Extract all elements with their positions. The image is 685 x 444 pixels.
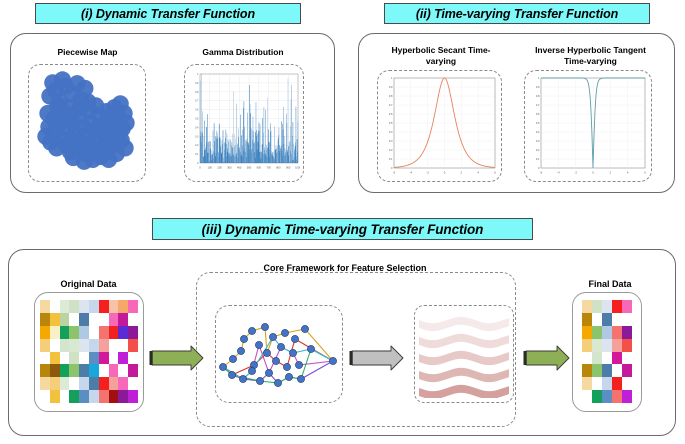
original-data-cell <box>128 352 138 365</box>
final-data-cell <box>582 339 592 352</box>
svg-text:0.3: 0.3 <box>195 135 199 138</box>
svg-text:0.5: 0.5 <box>536 121 540 125</box>
svg-text:0.4: 0.4 <box>195 126 199 129</box>
hyperbolic-secant-chart: -6-4-2024600.10.20.30.40.50.60.70.80.91 <box>381 74 498 178</box>
final-data-cell <box>612 300 622 313</box>
final-data-cell <box>592 300 602 313</box>
final-data-cell <box>592 352 602 365</box>
svg-text:0.2: 0.2 <box>389 148 393 152</box>
final-data-cell <box>622 313 632 326</box>
final-data-cell <box>582 352 592 365</box>
arrow-original-to-core-icon <box>148 344 204 372</box>
original-data-cell <box>40 352 50 365</box>
original-data-heatmap <box>40 300 138 403</box>
original-data-cell <box>79 313 89 326</box>
svg-text:-2: -2 <box>426 171 429 175</box>
svg-text:1: 1 <box>197 73 199 76</box>
svg-text:500: 500 <box>247 166 252 170</box>
svg-text:0: 0 <box>199 166 201 170</box>
original-data-cell <box>89 377 99 390</box>
original-data-cell <box>69 313 79 326</box>
original-data-cell <box>60 390 70 403</box>
final-data-cell <box>602 377 612 390</box>
original-data-cell <box>50 339 60 352</box>
original-data-cell <box>50 300 60 313</box>
transfer-function-wave-graphic <box>419 310 509 398</box>
original-data-cell <box>109 339 119 352</box>
svg-text:4: 4 <box>477 171 479 175</box>
svg-text:0.8: 0.8 <box>195 91 199 94</box>
original-data-cell <box>60 313 70 326</box>
hyperbolic-secant-title: Hyperbolic Secant Time-varying <box>377 45 505 67</box>
original-data-cell <box>50 313 60 326</box>
svg-text:0: 0 <box>538 166 540 170</box>
final-data-cell <box>602 326 612 339</box>
original-data-cell <box>89 390 99 403</box>
final-data-cell <box>582 313 592 326</box>
banner-time-varying-transfer-function: (ii) Time-varying Transfer Function <box>384 3 650 24</box>
final-data-cell <box>622 339 632 352</box>
original-data-cell <box>60 364 70 377</box>
original-data-cell <box>89 364 99 377</box>
original-data-cell <box>40 390 50 403</box>
original-data-cell <box>118 352 128 365</box>
original-data-cell <box>118 339 128 352</box>
banner-i-label: (i) Dynamic Transfer Function <box>81 7 255 21</box>
svg-text:400: 400 <box>237 166 242 170</box>
final-data-cell <box>612 313 622 326</box>
piecewise-map-scatter-chart <box>33 69 141 177</box>
svg-text:0.5: 0.5 <box>195 118 199 121</box>
svg-text:100: 100 <box>208 166 213 170</box>
svg-text:2: 2 <box>610 171 612 175</box>
svg-text:0.3: 0.3 <box>389 139 393 143</box>
svg-text:0.5: 0.5 <box>389 121 393 125</box>
svg-text:-4: -4 <box>410 171 413 175</box>
svg-text:0.4: 0.4 <box>536 130 540 134</box>
svg-text:200: 200 <box>217 166 222 170</box>
final-data-title: Final Data <box>570 279 650 290</box>
original-data-cell <box>50 390 60 403</box>
original-data-cell <box>69 326 79 339</box>
original-data-cell <box>89 339 99 352</box>
final-data-cell <box>612 339 622 352</box>
original-data-cell <box>118 300 128 313</box>
svg-text:0.6: 0.6 <box>389 112 393 116</box>
final-data-cell <box>622 390 632 403</box>
original-data-cell <box>40 326 50 339</box>
svg-text:0.6: 0.6 <box>195 109 199 112</box>
gamma-distribution-title: Gamma Distribution <box>178 47 308 58</box>
svg-text:0: 0 <box>197 162 199 165</box>
original-data-cell <box>50 352 60 365</box>
original-data-cell <box>79 326 89 339</box>
final-data-cell <box>602 352 612 365</box>
original-data-cell <box>109 352 119 365</box>
banner-iii-label: (iii) Dynamic Time-varying Transfer Func… <box>202 222 484 237</box>
svg-text:6: 6 <box>644 171 646 175</box>
original-data-cell <box>79 352 89 365</box>
original-data-cell <box>109 390 119 403</box>
svg-text:-4: -4 <box>557 171 560 175</box>
svg-text:800: 800 <box>276 166 281 170</box>
final-data-cell <box>622 352 632 365</box>
svg-text:-6: -6 <box>540 171 543 175</box>
original-data-cell <box>118 377 128 390</box>
original-data-cell <box>40 313 50 326</box>
final-data-cell <box>612 390 622 403</box>
original-data-cell <box>69 300 79 313</box>
svg-text:0.8: 0.8 <box>536 94 540 98</box>
original-data-cell <box>118 313 128 326</box>
original-data-cell <box>40 300 50 313</box>
original-data-title: Original Data <box>36 279 141 290</box>
original-data-cell <box>99 364 109 377</box>
original-data-cell <box>79 377 89 390</box>
svg-text:600: 600 <box>257 166 262 170</box>
svg-text:-6: -6 <box>393 171 396 175</box>
original-data-cell <box>128 390 138 403</box>
original-data-cell <box>99 339 109 352</box>
original-data-cell <box>79 390 89 403</box>
final-data-cell <box>612 377 622 390</box>
original-data-cell <box>128 339 138 352</box>
banner-dynamic-time-varying-transfer-function: (iii) Dynamic Time-varying Transfer Func… <box>152 218 533 240</box>
svg-text:1: 1 <box>538 76 540 80</box>
original-data-cell <box>128 313 138 326</box>
final-data-cell <box>582 377 592 390</box>
original-data-cell <box>69 339 79 352</box>
original-data-cell <box>109 326 119 339</box>
svg-text:0.1: 0.1 <box>195 153 199 156</box>
original-data-cell <box>99 377 109 390</box>
original-data-cell <box>109 364 119 377</box>
original-data-cell <box>89 326 99 339</box>
original-data-cell <box>89 313 99 326</box>
svg-text:0.4: 0.4 <box>389 130 393 134</box>
final-data-cell <box>582 390 592 403</box>
final-data-cell <box>622 326 632 339</box>
final-data-cell <box>602 339 612 352</box>
final-data-cell <box>612 326 622 339</box>
original-data-cell <box>109 313 119 326</box>
final-data-cell <box>602 313 612 326</box>
original-data-cell <box>128 326 138 339</box>
arrow-population-to-transfer-icon <box>348 344 404 372</box>
svg-text:300: 300 <box>227 166 232 170</box>
svg-text:0.9: 0.9 <box>195 82 199 85</box>
original-data-cell <box>60 300 70 313</box>
svg-text:1: 1 <box>391 76 393 80</box>
svg-text:6: 6 <box>494 171 496 175</box>
original-data-cell <box>40 339 50 352</box>
svg-text:700: 700 <box>266 166 271 170</box>
original-data-cell <box>79 364 89 377</box>
svg-text:900: 900 <box>286 166 291 170</box>
original-data-cell <box>69 364 79 377</box>
final-data-cell <box>612 364 622 377</box>
original-data-cell <box>69 352 79 365</box>
svg-text:0.8: 0.8 <box>389 94 393 98</box>
svg-text:0.2: 0.2 <box>536 148 540 152</box>
final-data-cell <box>592 313 602 326</box>
svg-text:0.2: 0.2 <box>195 144 199 147</box>
svg-text:0.7: 0.7 <box>389 103 393 107</box>
banner-dynamic-transfer-function: (i) Dynamic Transfer Function <box>35 3 301 24</box>
svg-text:0: 0 <box>592 171 594 175</box>
original-data-cell <box>128 377 138 390</box>
final-data-cell <box>592 339 602 352</box>
svg-text:0.1: 0.1 <box>389 157 393 161</box>
final-data-cell <box>582 326 592 339</box>
original-data-cell <box>50 377 60 390</box>
inverse-hyperbolic-tangent-chart: -6-4-2024600.10.20.30.40.50.60.70.80.91 <box>528 74 648 178</box>
original-data-cell <box>89 300 99 313</box>
gamma-distribution-chart: 0100200300400500600700800900100000.10.20… <box>188 69 300 177</box>
original-data-cell <box>50 364 60 377</box>
final-data-cell <box>612 352 622 365</box>
original-data-cell <box>99 390 109 403</box>
svg-text:1000: 1000 <box>295 166 300 170</box>
inverse-hyperbolic-tangent-title: Inverse Hyperbolic Tangent Time-varying <box>523 45 658 67</box>
original-data-cell <box>99 300 109 313</box>
svg-text:0.3: 0.3 <box>536 139 540 143</box>
final-data-cell <box>622 364 632 377</box>
original-data-cell <box>89 352 99 365</box>
original-data-cell <box>118 364 128 377</box>
original-data-cell <box>99 326 109 339</box>
original-data-cell <box>40 377 50 390</box>
original-data-cell <box>128 364 138 377</box>
svg-text:2: 2 <box>461 171 463 175</box>
original-data-cell <box>118 326 128 339</box>
original-data-cell <box>99 352 109 365</box>
original-data-cell <box>60 377 70 390</box>
original-data-cell <box>128 300 138 313</box>
population-change-network-graph <box>219 309 339 399</box>
final-data-cell <box>582 300 592 313</box>
original-data-cell <box>99 313 109 326</box>
final-data-cell <box>592 326 602 339</box>
svg-text:0.7: 0.7 <box>195 100 199 103</box>
original-data-cell <box>69 377 79 390</box>
banner-ii-label: (ii) Time-varying Transfer Function <box>416 7 618 21</box>
svg-text:0.1: 0.1 <box>536 157 540 161</box>
final-data-cell <box>582 364 592 377</box>
svg-text:0.9: 0.9 <box>536 85 540 89</box>
original-data-cell <box>109 300 119 313</box>
svg-text:0: 0 <box>444 171 446 175</box>
final-data-cell <box>622 300 632 313</box>
final-data-cell <box>592 377 602 390</box>
svg-text:0.6: 0.6 <box>536 112 540 116</box>
arrow-core-to-final-icon <box>522 344 570 372</box>
final-data-heatmap <box>582 300 632 403</box>
svg-text:0.9: 0.9 <box>389 85 393 89</box>
original-data-cell <box>79 339 89 352</box>
original-data-cell <box>60 339 70 352</box>
svg-text:4: 4 <box>627 171 629 175</box>
original-data-cell <box>40 364 50 377</box>
original-data-cell <box>109 377 119 390</box>
original-data-cell <box>118 390 128 403</box>
final-data-cell <box>602 364 612 377</box>
original-data-cell <box>69 390 79 403</box>
original-data-cell <box>60 352 70 365</box>
svg-text:-2: -2 <box>574 171 577 175</box>
svg-text:0.7: 0.7 <box>536 103 540 107</box>
final-data-cell <box>592 364 602 377</box>
original-data-cell <box>50 326 60 339</box>
final-data-cell <box>592 390 602 403</box>
original-data-cell <box>60 326 70 339</box>
final-data-cell <box>602 300 612 313</box>
final-data-cell <box>622 377 632 390</box>
final-data-cell <box>602 390 612 403</box>
piecewise-map-title: Piecewise Map <box>30 47 145 58</box>
svg-text:0: 0 <box>391 166 393 170</box>
original-data-cell <box>79 300 89 313</box>
